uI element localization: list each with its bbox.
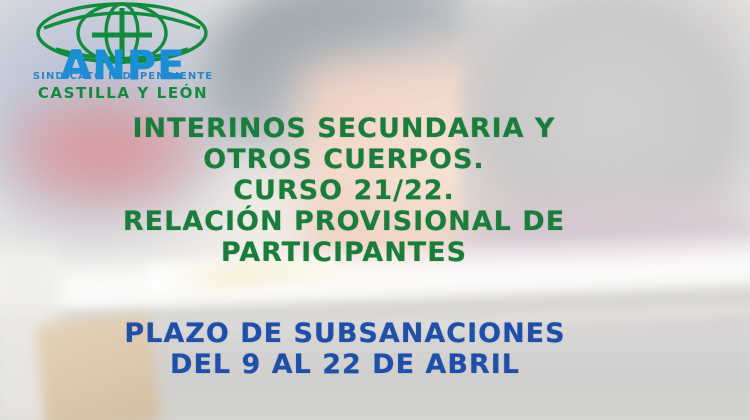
deadline-line-1: PLAZO DE SUBSANACIONES [0, 318, 690, 349]
deadline-block: PLAZO DE SUBSANACIONES DEL 9 AL 22 DE AB… [0, 318, 690, 380]
logo-tagline: SINDICATO INDEPENDIENTE [14, 72, 232, 82]
anpe-logo: ANPE SINDICATO INDEPENDIENTE CASTILLA Y … [14, 2, 232, 106]
headline-line-2: OTROS CUERPOS. [0, 144, 688, 175]
headline-line-5: PARTICIPANTES [0, 237, 688, 268]
deadline-line-2: DEL 9 AL 22 DE ABRIL [0, 349, 690, 380]
headline-line-3: CURSO 21/22. [0, 175, 688, 206]
poster-banner: ANPE SINDICATO INDEPENDIENTE CASTILLA Y … [0, 0, 750, 420]
headline-line-4: RELACIÓN PROVISIONAL DE [0, 206, 688, 237]
headline-block: INTERINOS SECUNDARIA Y OTROS CUERPOS. CU… [0, 113, 688, 268]
logo-region: CASTILLA Y LEÓN [14, 86, 232, 101]
headline-line-1: INTERINOS SECUNDARIA Y [0, 113, 688, 144]
